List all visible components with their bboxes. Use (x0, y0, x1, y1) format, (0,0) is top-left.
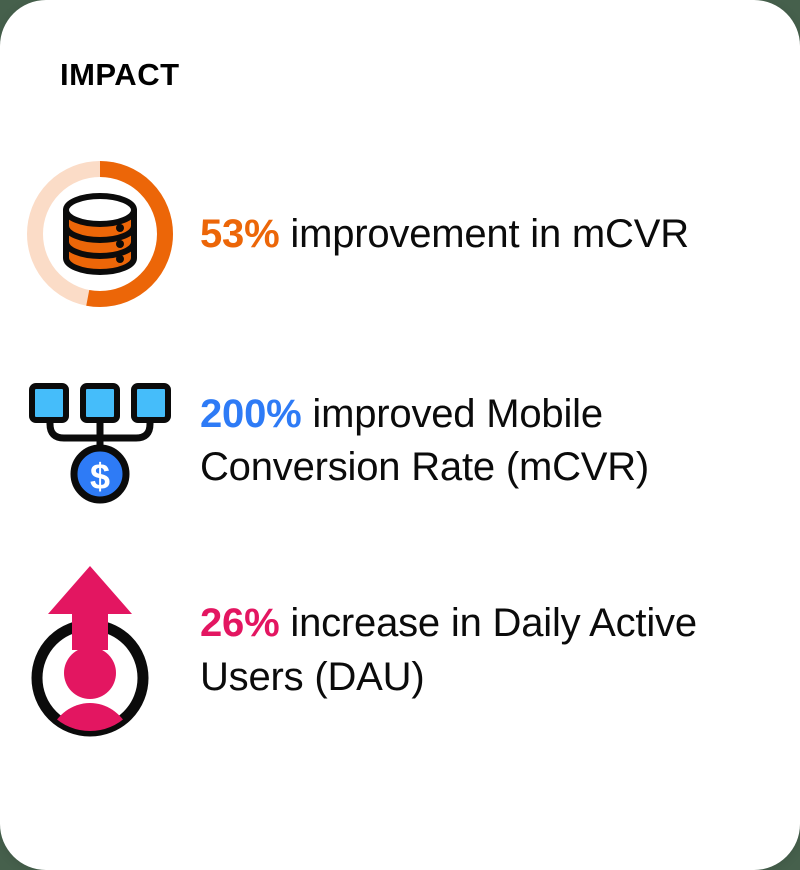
impact-icon-slot (0, 154, 200, 314)
network-node-right (134, 386, 168, 420)
impact-stat-value: 53% (200, 212, 279, 256)
impact-list: 53% improvement in mCVR (0, 154, 800, 743)
impact-text: 26% increase in Daily Active Users (DAU) (200, 597, 800, 703)
funnel-dollar-network-icon: $ (20, 376, 180, 506)
impact-stat-value: 200% (200, 392, 302, 436)
list-item: 26% increase in Daily Active Users (DAU) (0, 558, 800, 743)
impact-icon-slot: $ (0, 376, 200, 506)
list-item: $ 200% improved Mobile Conversion Rate (… (0, 376, 800, 506)
network-node-center (83, 386, 117, 420)
card-content: IMPACT (0, 0, 800, 870)
page-title: IMPACT (60, 58, 800, 92)
database-donut-icon (20, 154, 180, 314)
impact-stat-value: 26% (200, 601, 279, 645)
network-node-left (32, 386, 66, 420)
impact-description: improvement in mCVR (279, 212, 688, 256)
impact-card: IMPACT (0, 0, 800, 870)
impact-text: 200% improved Mobile Conversion Rate (mC… (200, 388, 800, 494)
list-item: 53% improvement in mCVR (0, 154, 800, 314)
user-growth-arrow-icon (20, 558, 180, 743)
impact-text: 53% improvement in mCVR (200, 208, 800, 261)
impact-icon-slot (0, 558, 200, 743)
currency-symbol: $ (90, 456, 110, 497)
person-silhouette (47, 647, 133, 743)
